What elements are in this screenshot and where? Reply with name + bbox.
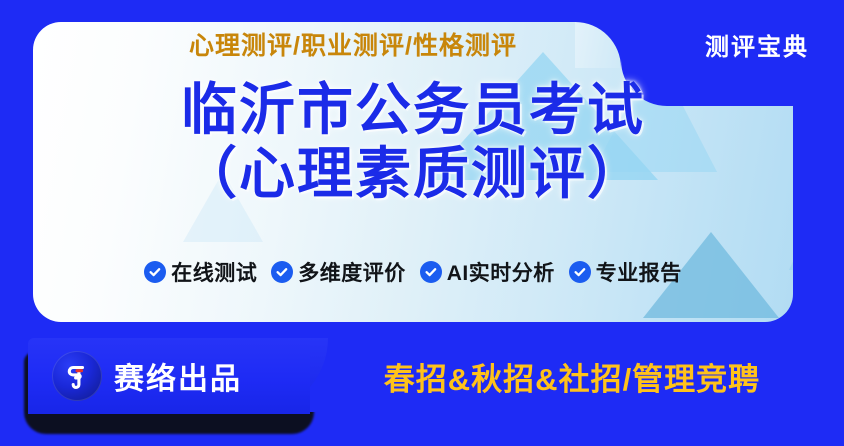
feature-label: 在线测试 bbox=[171, 257, 257, 287]
feature-label: AI实时分析 bbox=[447, 257, 555, 287]
check-circle-icon bbox=[144, 261, 166, 283]
title-line-2: （心理素质测评） bbox=[33, 142, 793, 206]
ribbon-tagline: 春招&秋招&社招/管理竞聘 bbox=[300, 340, 844, 412]
feature-item: AI实时分析 bbox=[420, 257, 555, 287]
sailuo-s-logo-icon bbox=[52, 351, 102, 401]
corner-badge: 测评宝典 bbox=[682, 22, 832, 66]
page-title: 临沂市公务员考试 （心理素质测评） bbox=[33, 78, 793, 206]
feature-list: 在线测试 多维度评价 AI实时分析 专业报告 bbox=[33, 252, 793, 292]
feature-item: 专业报告 bbox=[569, 257, 682, 287]
feature-label: 多维度评价 bbox=[298, 257, 406, 287]
brand-block: 赛络出品 bbox=[28, 338, 310, 414]
check-circle-icon bbox=[271, 261, 293, 283]
feature-item: 多维度评价 bbox=[271, 257, 406, 287]
check-circle-icon bbox=[569, 261, 591, 283]
feature-item: 在线测试 bbox=[144, 257, 257, 287]
feature-label: 专业报告 bbox=[596, 257, 682, 287]
check-circle-icon bbox=[420, 261, 442, 283]
kicker-text: 心理测评/职业测评/性格测评 bbox=[33, 22, 673, 66]
poster-banner: 心理测评/职业测评/性格测评 测评宝典 临沂市公务员考试 （心理素质测评） 在线… bbox=[0, 0, 844, 446]
brand-name: 赛络出品 bbox=[114, 354, 242, 398]
title-line-1: 临沂市公务员考试 bbox=[33, 78, 793, 142]
